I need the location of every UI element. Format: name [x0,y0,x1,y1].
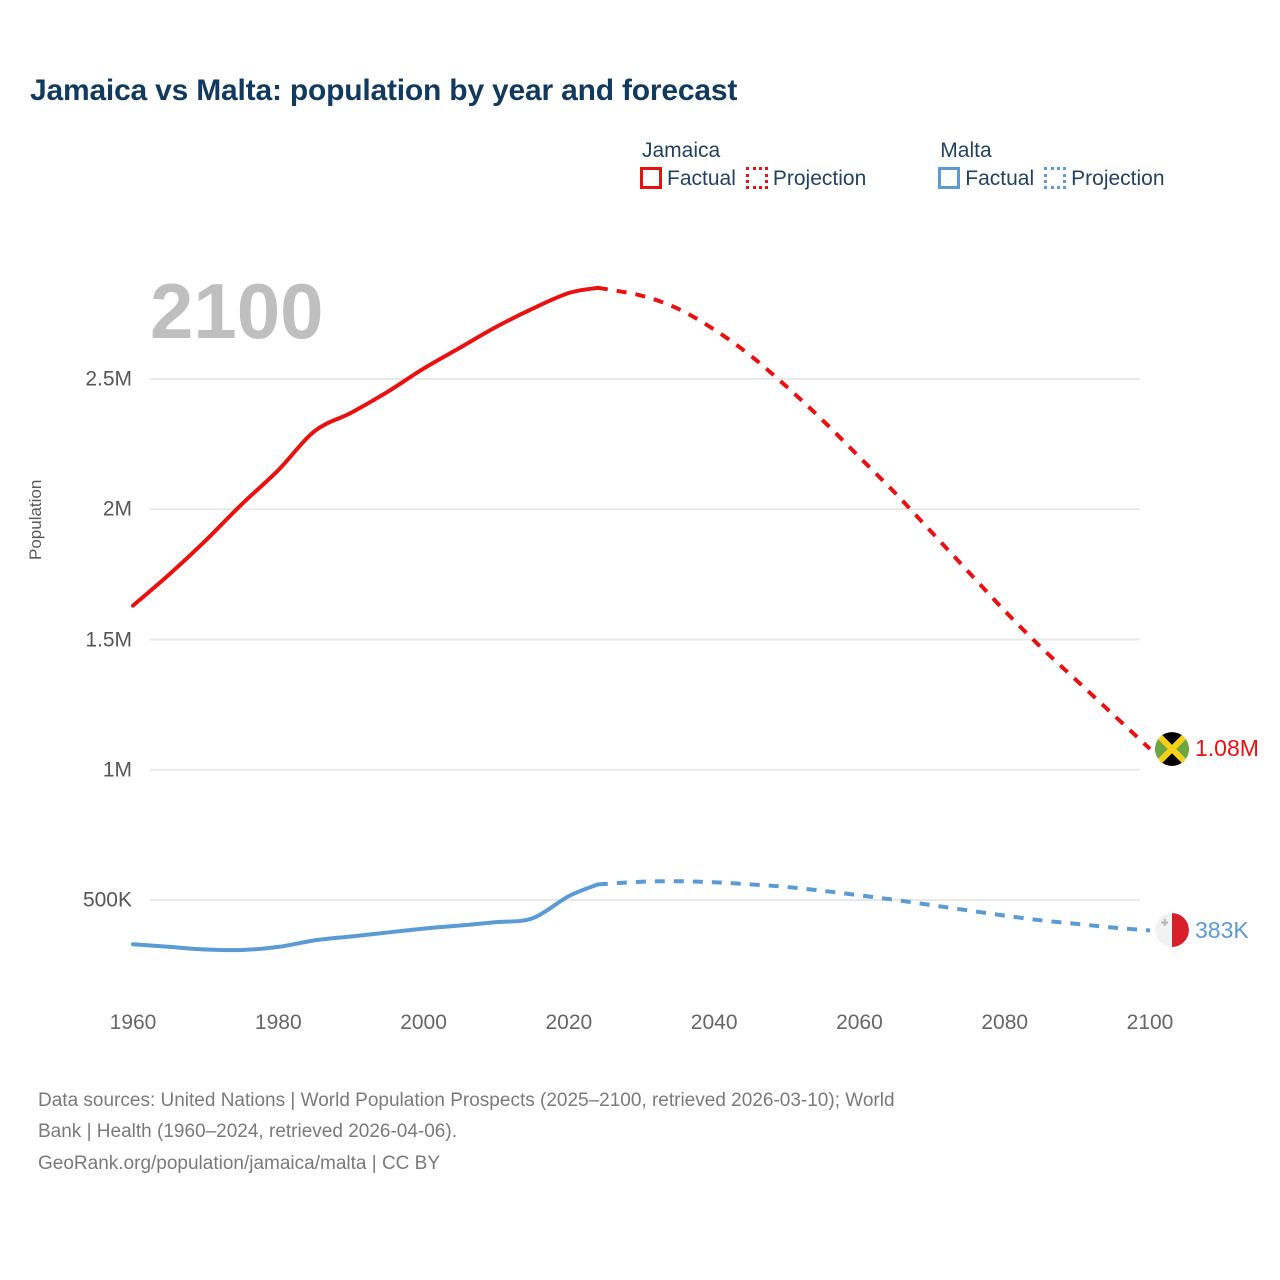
series-line-factual-jamaica [133,288,598,606]
x-axis-tick: 1960 [110,1012,157,1033]
malta-flag-icon [1155,913,1189,947]
series-line-projection-jamaica [598,288,1150,749]
malta-endpoint: 383K [1155,913,1249,947]
x-axis-tick: 2060 [836,1012,883,1033]
x-axis-tick: 2080 [981,1012,1028,1033]
footer-line-2: Bank | Health (1960–2024, retrieved 2026… [38,1117,1238,1146]
y-axis-tick: 2.5M [85,369,132,390]
footer-line-3[interactable]: GeoRank.org/population/jamaica/malta | C… [38,1149,1238,1178]
y-axis-tick: 1.5M [85,629,132,650]
jamaica-flag-icon [1155,732,1189,766]
x-axis-tick: 2020 [545,1012,592,1033]
footer-line-1: Data sources: United Nations | World Pop… [38,1086,1238,1115]
x-axis-tick: 2100 [1127,1012,1174,1033]
series-line-factual-malta [133,884,598,950]
y-axis-tick: 500K [83,890,132,911]
jamaica-endpoint: 1.08M [1155,732,1259,766]
chart-footer: Data sources: United Nations | World Pop… [38,1086,1238,1178]
x-axis-tick: 2040 [691,1012,738,1033]
y-axis-tick: 1M [103,759,132,780]
y-axis-tick: 2M [103,499,132,520]
chart-container: Jamaica vs Malta: population by year and… [0,0,1280,1280]
malta-endpoint-value: 383K [1195,919,1249,942]
series-line-projection-malta [598,881,1150,930]
jamaica-endpoint-value: 1.08M [1195,737,1259,760]
x-axis-tick: 1980 [255,1012,302,1033]
x-axis-tick: 2000 [400,1012,447,1033]
